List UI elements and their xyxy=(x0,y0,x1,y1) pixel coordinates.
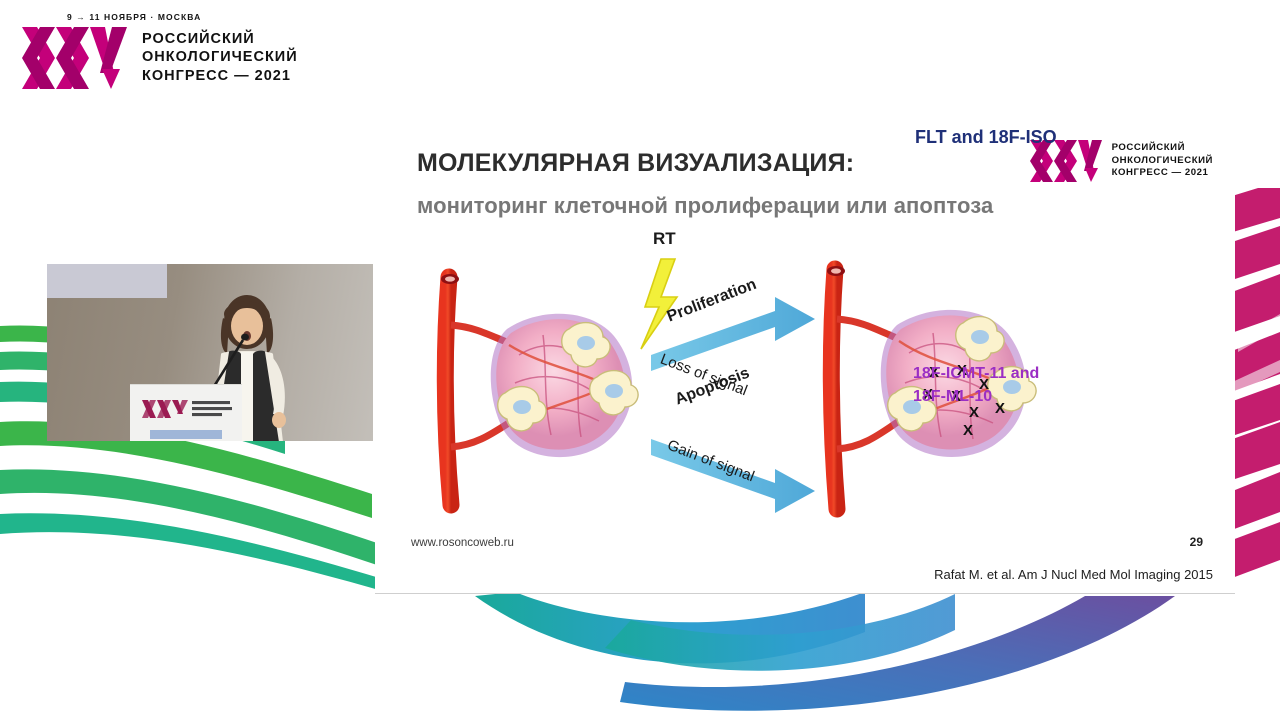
presentation-slide: МОЛЕКУЛЯРНАЯ ВИЗУАЛИЗАЦИЯ: мониторинг кл… xyxy=(375,107,1235,594)
congress-line-2: ОНКОЛОГИЧЕСКИЙ xyxy=(142,48,298,66)
congress-logo: 9 → 11 НОЯБРЯ · МОСКВА РОСС xyxy=(22,12,362,98)
tracer-label-bottom: 18F-ICMT-11 and 18F-ML-10 xyxy=(913,362,1039,408)
slide-congress-logo: РОССИЙСКИЙ ОНКОЛОГИЧЕСКИЙ КОНГРЕСС — 202… xyxy=(1030,140,1213,182)
slide-logo-line-2: ОНКОЛОГИЧЕСКИЙ xyxy=(1112,155,1213,167)
tracer-label-top: FLT and 18F-ISO xyxy=(915,127,1057,148)
slide-subtitle: мониторинг клеточной пролиферации или ап… xyxy=(417,193,993,219)
slide-title: МОЛЕКУЛЯРНАЯ ВИЗУАЛИЗАЦИЯ: xyxy=(417,149,854,178)
slide-logo-line-1: РОССИЙСКИЙ xyxy=(1112,142,1213,154)
congress-wordmark: РОССИЙСКИЙ ОНКОЛОГИЧЕСКИЙ КОНГРЕСС — 202… xyxy=(142,30,298,85)
slide-page-number: 29 xyxy=(1190,535,1203,549)
speaker-video-panel[interactable] xyxy=(47,264,373,441)
congress-line-1: РОССИЙСКИЙ xyxy=(142,30,298,48)
slide-logo-line-3: КОНГРЕСС — 2021 xyxy=(1112,167,1213,179)
presentation-stage: 9 → 11 НОЯБРЯ · МОСКВА РОСС xyxy=(0,0,1280,720)
podium xyxy=(130,384,242,441)
xxv-mark-icon xyxy=(22,27,127,89)
radiation-bolt-icon xyxy=(641,259,677,349)
video-projection-screen xyxy=(47,264,167,298)
rt-label: RT xyxy=(653,229,676,249)
slide-footer-url: www.rosoncoweb.ru xyxy=(411,537,514,549)
slide-logo-wordmark: РОССИЙСКИЙ ОНКОЛОГИЧЕСКИЙ КОНГРЕСС — 202… xyxy=(1112,142,1213,179)
podium-logo xyxy=(140,396,232,422)
tracer-line-1: 18F-ICMT-11 and xyxy=(913,362,1039,385)
gradient-arc-decoration xyxy=(395,590,1280,720)
slide-citation: Rafat M. et al. Am J Nucl Med Mol Imagin… xyxy=(934,567,1213,582)
tracer-line-2: 18F-ML-10 xyxy=(913,385,1039,408)
podium-screen-strip xyxy=(150,430,222,439)
congress-line-3: КОНГРЕСС — 2021 xyxy=(142,67,298,85)
left-tumor-group xyxy=(441,274,638,505)
svg-text:X: X xyxy=(963,422,973,439)
congress-date-line: 9 → 11 НОЯБРЯ · МОСКВА xyxy=(67,12,362,22)
slide-bottom-rule xyxy=(375,593,1235,594)
